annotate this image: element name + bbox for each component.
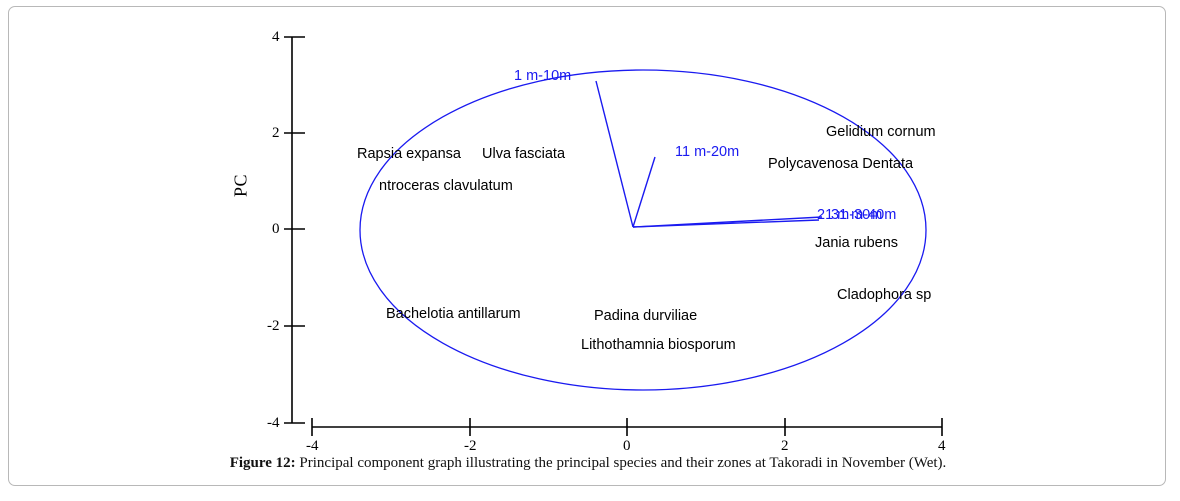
species-label-ulva-fasciata: Ulva fasciata xyxy=(482,147,565,162)
x-tick-0: 0 xyxy=(623,438,631,455)
x-tick-4: 4 xyxy=(938,438,946,455)
x-tick-minus-4: -4 xyxy=(306,438,319,455)
species-label-lithothamnia-biosporum: Lithothamnia biosporum xyxy=(581,338,736,353)
vector-11m-20m xyxy=(633,157,655,227)
figure-caption-text: Principal component graph illustrating t… xyxy=(296,455,947,471)
species-label-polycavenosa-dentata: Polycavenosa Dentata xyxy=(768,157,913,172)
y-axis-title: PC xyxy=(231,166,252,206)
plot-svg xyxy=(9,7,1167,437)
species-label-rapsia-expansa: Rapsia expansa xyxy=(357,147,461,162)
y-tick-0: 0 xyxy=(272,221,280,238)
x-axis xyxy=(312,418,942,436)
vector-31m-40m xyxy=(633,217,822,227)
plot-area: 4 2 0 -2 -4 -4 -2 0 2 4 PC 1 m-10m 11 m-… xyxy=(9,7,1167,437)
species-label-jania-rubens: Jania rubens xyxy=(815,236,898,251)
vector-1m-10m xyxy=(596,81,633,227)
figure-caption: Figure 12: Principal component graph ill… xyxy=(9,455,1167,472)
zone-label-31m-40m: 31 m-40m xyxy=(831,208,896,223)
y-tick-minus-4: -4 xyxy=(267,415,280,432)
species-label-cladophora-sp: Cladophora sp xyxy=(837,288,931,303)
y-tick-2: 2 xyxy=(272,125,280,142)
figure-caption-number: Figure 12: xyxy=(230,455,296,471)
y-axis xyxy=(284,37,305,423)
x-tick-minus-2: -2 xyxy=(464,438,477,455)
species-label-gelidium-cornum: Gelidium cornum xyxy=(826,125,936,140)
species-label-ntroceras-clavulatum: ntroceras clavulatum xyxy=(379,179,513,194)
y-tick-4: 4 xyxy=(272,29,280,46)
figure-card: 4 2 0 -2 -4 -4 -2 0 2 4 PC 1 m-10m 11 m-… xyxy=(8,6,1166,486)
zone-label-1m-10m: 1 m-10m xyxy=(514,69,571,84)
y-tick-minus-2: -2 xyxy=(267,318,280,335)
species-label-padina-durviliae: Padina durviliae xyxy=(594,309,697,324)
zone-label-11m-20m: 11 m-20m xyxy=(675,145,739,160)
species-label-bachelotia-antillarum: Bachelotia antillarum xyxy=(386,307,521,322)
x-tick-2: 2 xyxy=(781,438,789,455)
